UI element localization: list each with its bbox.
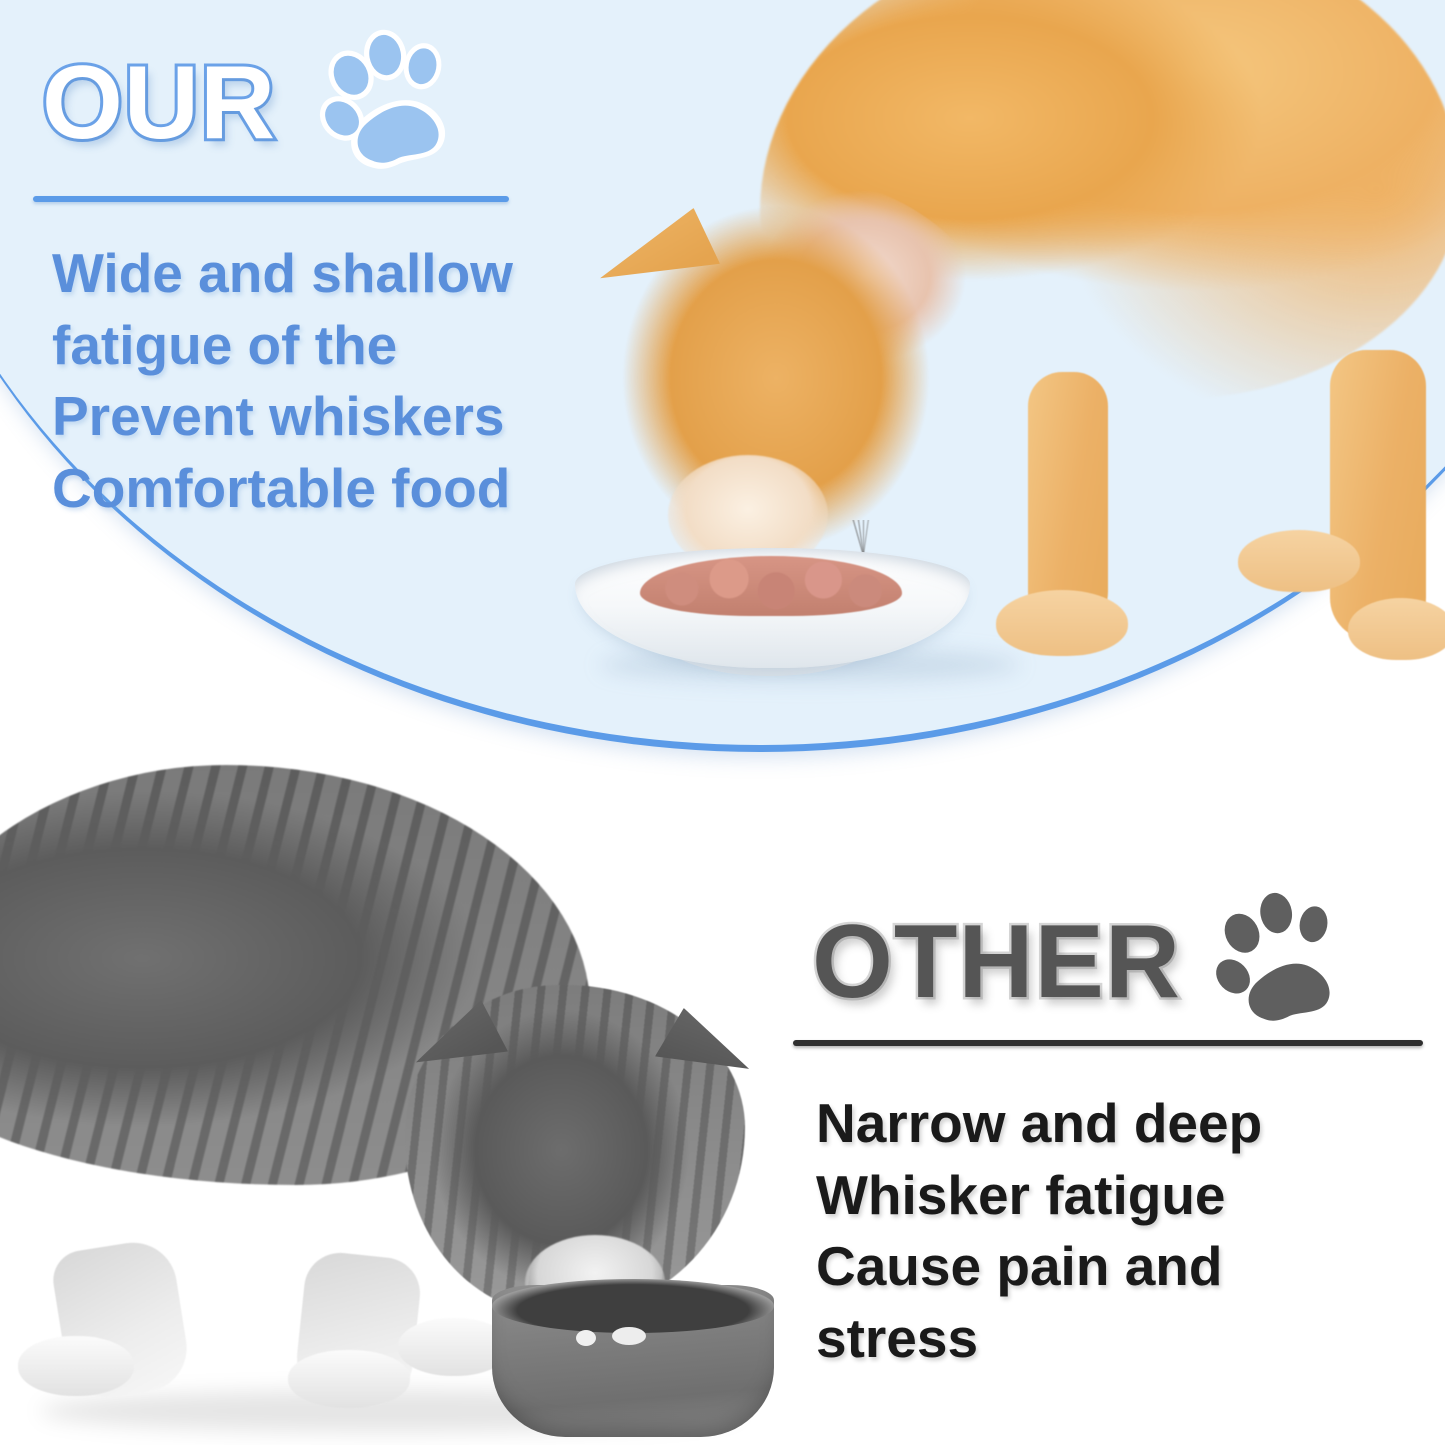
our-divider-rule	[33, 196, 509, 202]
gray-cat-paw-center	[288, 1350, 410, 1408]
paw-print-icon	[1209, 884, 1359, 1034]
our-body-text: Wide and shallow fatigue of the Prevent …	[52, 238, 592, 524]
our-headline: OUR	[42, 51, 276, 155]
other-body-text: Narrow and deep Whisker fatigue Cause pa…	[816, 1088, 1416, 1374]
gray-bowl-highlight-small	[576, 1330, 596, 1346]
orange-cat-hind-leg	[1330, 350, 1426, 640]
gray-cat-paw-left	[18, 1336, 134, 1396]
orange-cat-paw-mid	[1238, 530, 1360, 592]
other-divider-rule	[793, 1040, 1423, 1046]
gray-bowl-highlight-large	[612, 1327, 646, 1345]
paw-print-icon	[318, 26, 468, 176]
gray-bowl-rim	[492, 1279, 774, 1333]
orange-cat-paw-front	[996, 590, 1128, 656]
other-headline: OTHER	[812, 910, 1181, 1014]
our-header-row: OUR	[42, 30, 468, 176]
orange-cat-paw-rear	[1348, 598, 1445, 660]
other-header-row: OTHER	[812, 890, 1359, 1034]
comparison-infographic: OTHER Narrow and deep Whisker fatigue Ca…	[0, 0, 1445, 1445]
